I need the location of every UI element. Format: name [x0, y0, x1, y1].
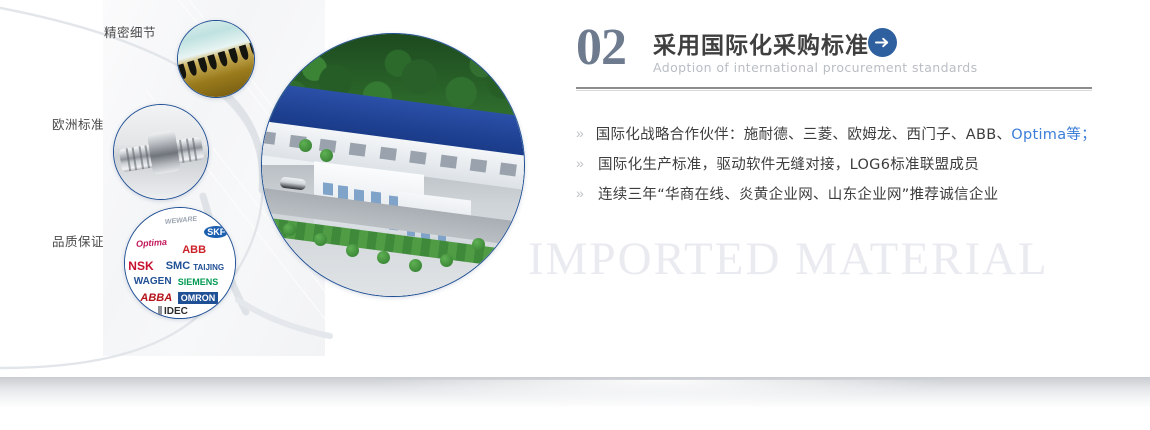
section-number: 02: [576, 22, 626, 74]
bullet-item: »国际化战略合作伙伴：施耐德、三菱、欧姆龙、西门子、ABB、Optima等；: [576, 118, 1096, 148]
tree: [346, 244, 359, 257]
chevron-right-icon: »: [576, 126, 596, 140]
screw-nut: [147, 130, 181, 175]
brand-logo-optima: Optima: [136, 237, 168, 249]
brand-logo-idec: IDEC: [158, 306, 188, 317]
arrow-right-circle-icon[interactable]: [868, 28, 897, 57]
factory-photo: [262, 34, 524, 296]
tree: [409, 259, 422, 272]
brand-logo-abba: ABBA: [140, 292, 172, 304]
chevron-right-icon: »: [576, 186, 598, 200]
label-quality-assurance: 品质保证: [52, 231, 104, 250]
circle-factory-aerial: [261, 33, 525, 297]
bullet-text: 国际化生产标准，驱动软件无缝对接，LOG6标准联盟成员: [598, 153, 979, 174]
bullet-text-main: 连续三年“华商在线、炎黄企业网、山东企业网”推荐诚信企业: [598, 187, 998, 203]
circle-gear-closeup: [177, 20, 255, 98]
content-column: 02 02 采用国际化采购标准 Adoption of internationa…: [576, 0, 1096, 430]
brand-logo-smc: SMC: [166, 260, 190, 272]
circle-brand-logos: WEWARESKFOptimaABBNSKSMCTAIJINGWAGENSIEM…: [124, 207, 236, 319]
bullet-text: 国际化战略合作伙伴：施耐德、三菱、欧姆龙、西门子、ABB、Optima等；: [596, 123, 1096, 144]
ball-screw-image: [114, 105, 208, 199]
tree: [320, 149, 333, 162]
bullet-text: 连续三年“华商在线、炎黄企业网、山东企业网”推荐诚信企业: [598, 183, 998, 204]
tree: [299, 139, 312, 152]
chevron-right-icon: »: [576, 156, 598, 170]
bullet-text-main: 国际化生产标准，驱动软件无缝对接，LOG6标准联盟成员: [598, 157, 979, 173]
brand-logo-abb: ABB: [182, 244, 206, 256]
brand-logo-skf: SKF: [204, 226, 228, 238]
brand-logo-wagen: WAGEN: [134, 276, 172, 287]
gear-image: [178, 21, 254, 97]
gear-teeth: [177, 40, 255, 81]
brand-logo-weware: WEWARE: [164, 216, 197, 226]
label-precision-detail: 精密细节: [104, 22, 156, 41]
bottom-band-glow: [380, 380, 940, 404]
bullet-list: »国际化战略合作伙伴：施耐德、三菱、欧姆龙、西门子、ABB、Optima等；»国…: [576, 118, 1096, 208]
bullet-item: »国际化生产标准，驱动软件无缝对接，LOG6标准联盟成员: [576, 148, 1096, 178]
brand-logo-cloud: WEWARESKFOptimaABBNSKSMCTAIJINGWAGENSIEM…: [125, 208, 235, 318]
brand-logo-nsk: NSK: [128, 259, 153, 273]
brand-logo-omron: OMRON: [178, 292, 219, 304]
header-divider: [576, 87, 1092, 91]
section-header: 02 02 采用国际化采购标准 Adoption of internationa…: [576, 24, 1096, 86]
section-title-en: Adoption of international procurement st…: [653, 60, 978, 75]
circle-ball-screw: [113, 104, 209, 200]
watermark-text: IMPORTED MATERIAL: [528, 236, 1148, 283]
brand-logo-siemens: SIEMENS: [178, 277, 219, 287]
brand-logo-taijing: TAIJING: [193, 263, 224, 272]
bullet-text-main: 国际化战略合作伙伴：施耐德、三菱、欧姆龙、西门子、ABB、: [596, 127, 1012, 143]
label-european-standard: 欧洲标准: [52, 114, 104, 133]
bullet-item: »连续三年“华商在线、炎黄企业网、山东企业网”推荐诚信企业: [576, 178, 1096, 208]
tree: [283, 223, 296, 236]
tree: [472, 238, 485, 251]
banner-root: 精密细节 欧洲标准 品质保证 WEWARESKFOptimaABBNSKSMCT…: [0, 0, 1150, 430]
bullet-text-highlight: Optima等；: [1011, 127, 1096, 143]
section-title-cn: 采用国际化采购标准: [653, 26, 869, 60]
